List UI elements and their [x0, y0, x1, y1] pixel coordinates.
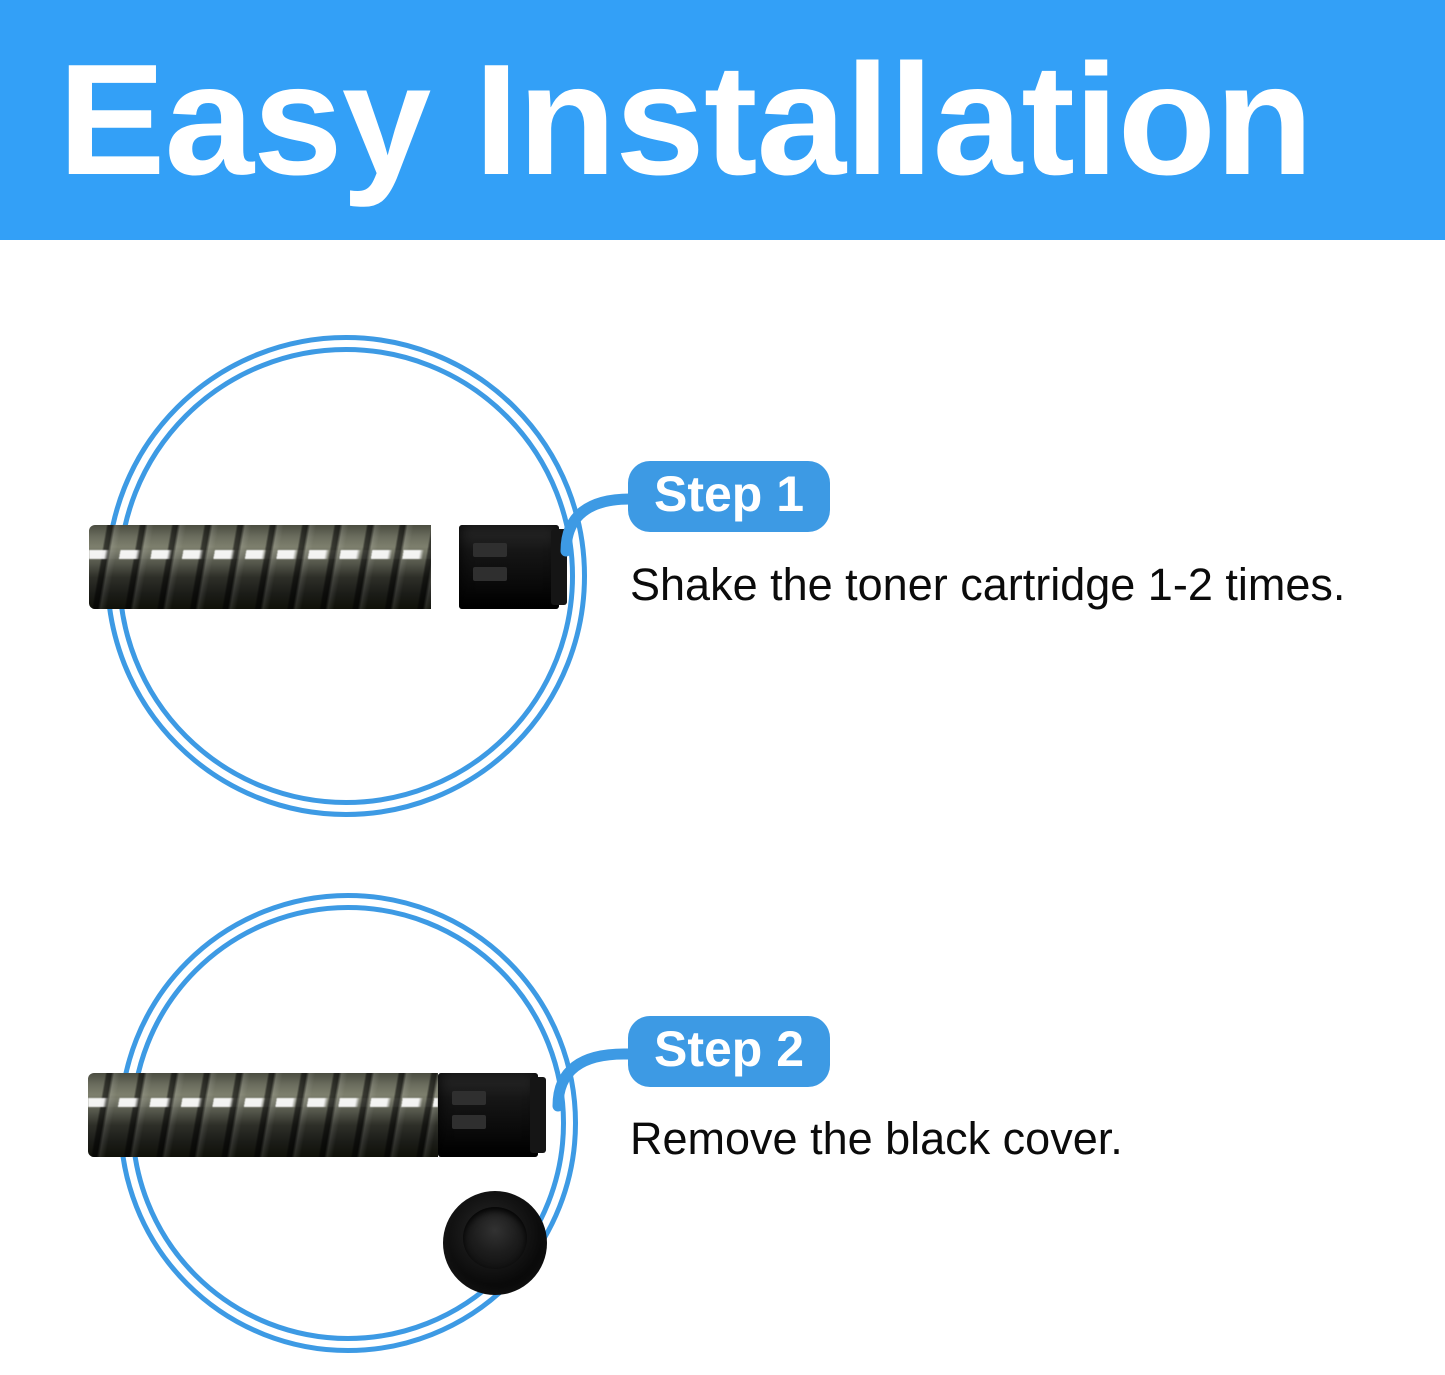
cartridge-black-head — [459, 525, 559, 609]
cartridge-body — [89, 525, 431, 609]
cartridge-notch-upper — [473, 543, 507, 557]
step-1-illustration-circle — [105, 335, 587, 817]
cartridge-body — [88, 1073, 438, 1157]
cartridge-notch-lower — [473, 567, 507, 581]
detached-black-cover — [443, 1191, 547, 1295]
step-2-description: Remove the black cover. — [630, 1114, 1123, 1164]
step-2-section: Step 2 Remove the black cover. — [0, 840, 1445, 1375]
toner-cartridge-image — [89, 525, 559, 609]
step-2-illustration-circle — [118, 893, 578, 1353]
step-1-description: Shake the toner cartridge 1-2 times. — [630, 560, 1345, 610]
cartridge-notch-lower — [452, 1115, 486, 1129]
toner-cartridge-image — [88, 1073, 538, 1157]
cartridge-head-lip — [551, 529, 567, 605]
step-1-badge: Step 1 — [628, 461, 830, 532]
header-banner: Easy Installation — [0, 0, 1445, 240]
cartridge-black-head — [438, 1073, 538, 1157]
cartridge-head-lip — [530, 1077, 546, 1153]
step-2-badge: Step 2 — [628, 1016, 830, 1087]
step-1-section: Step 1 Shake the toner cartridge 1-2 tim… — [0, 240, 1445, 840]
cartridge-notch-upper — [452, 1091, 486, 1105]
page-title: Easy Installation — [58, 41, 1312, 199]
